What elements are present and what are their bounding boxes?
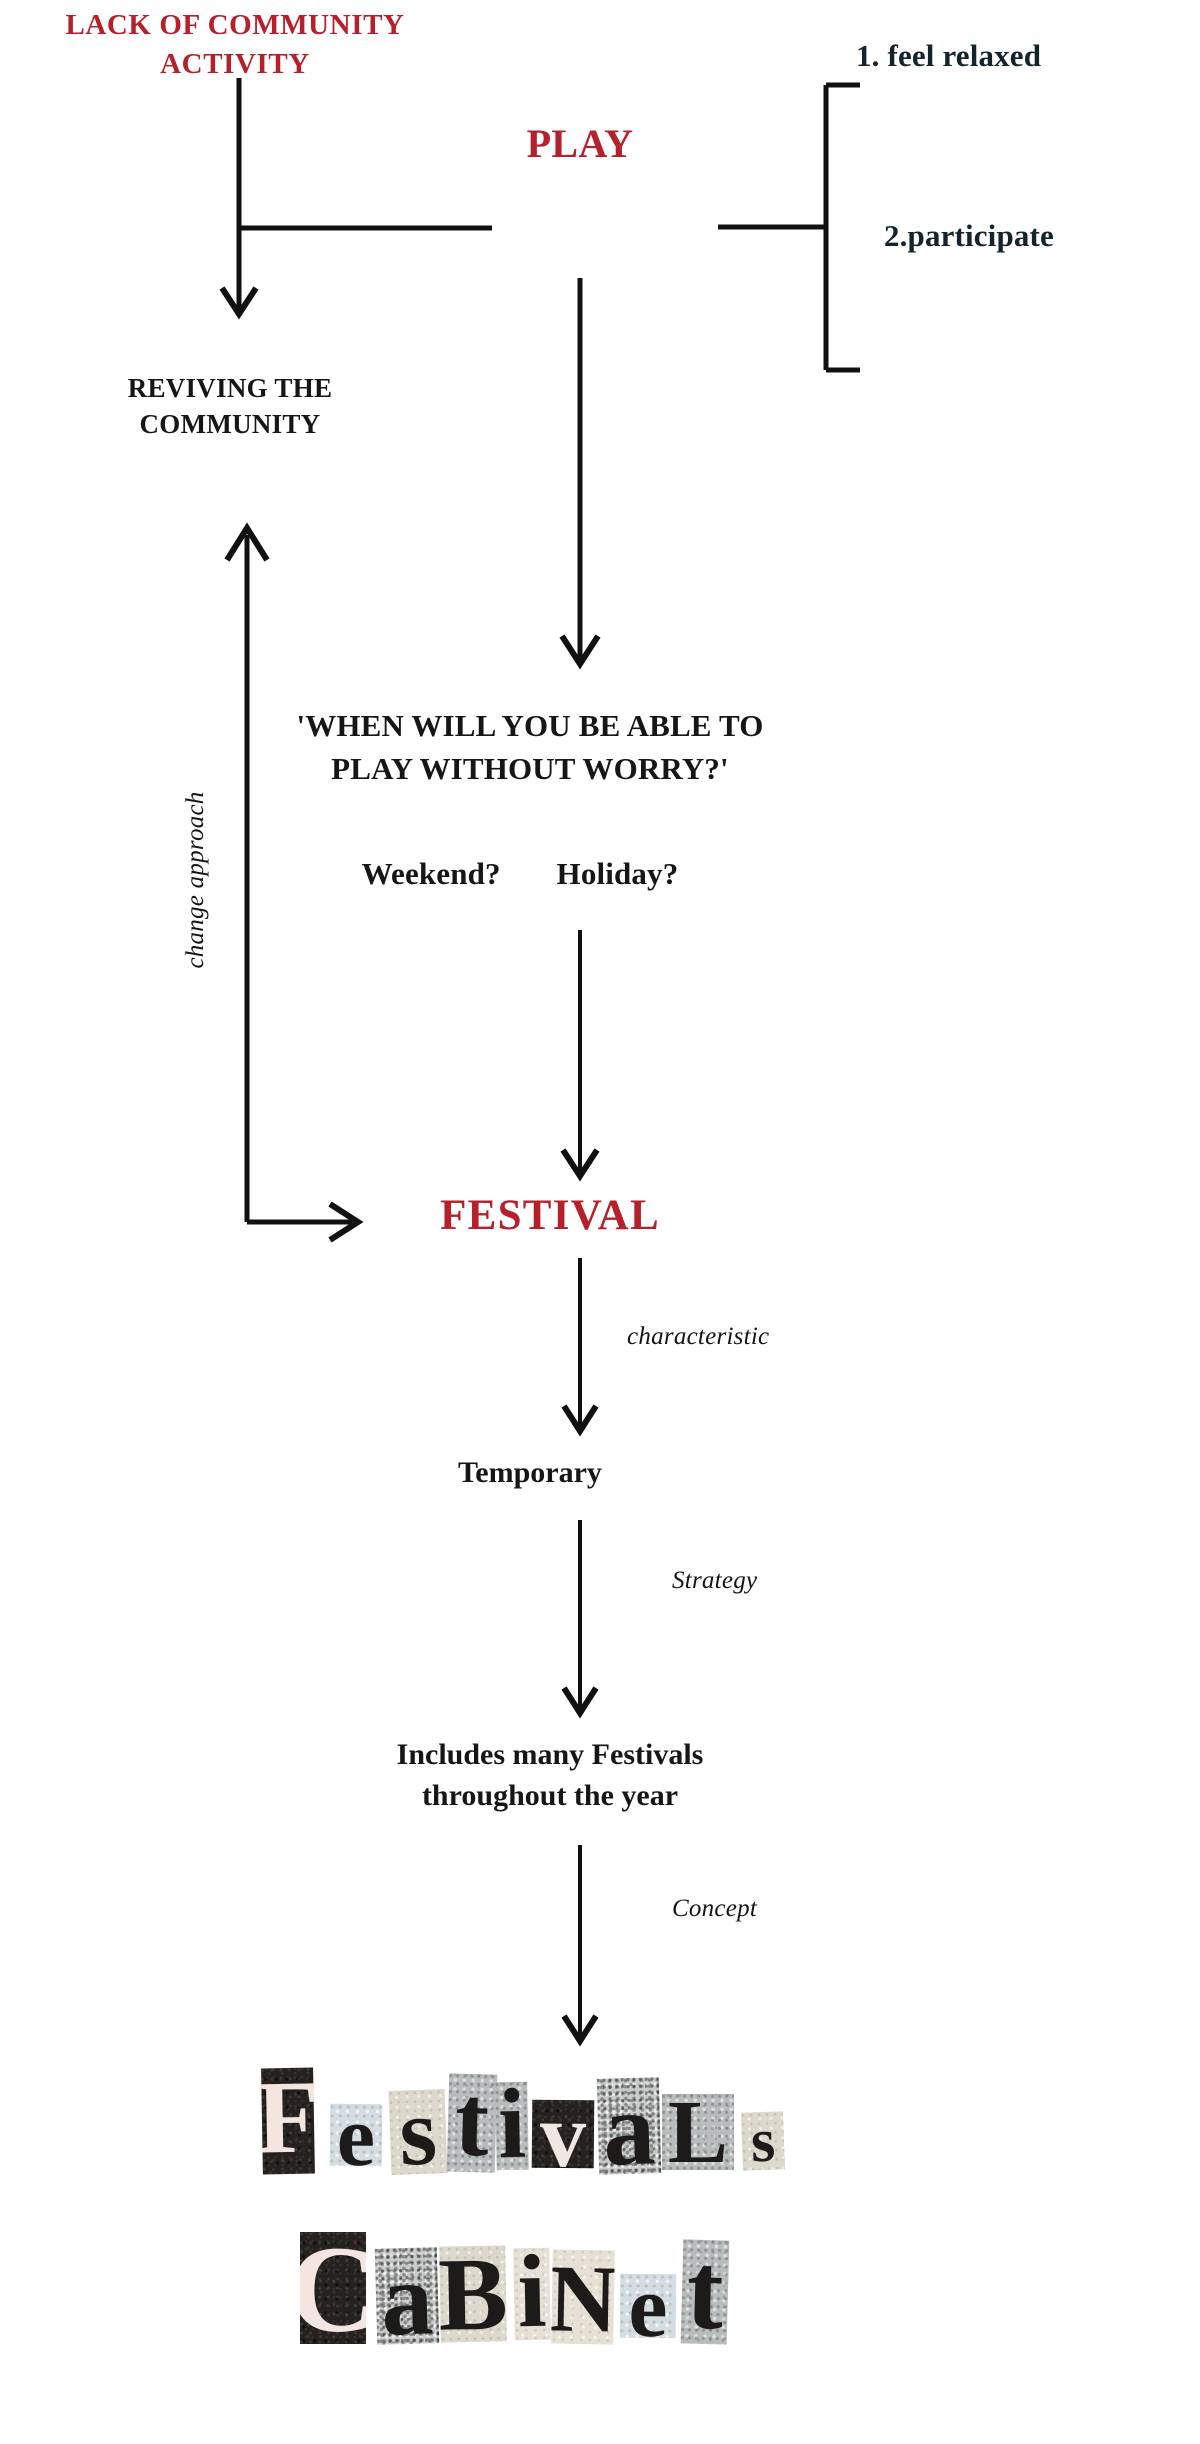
collage-letter-e: e (620, 2274, 677, 2338)
edge-options-to-festival (563, 930, 597, 1176)
collage-glyph: a (602, 2084, 656, 2175)
collage-glyph: i (517, 2248, 547, 2338)
collage-letter-e: e (330, 2104, 383, 2166)
collage-letter-s: s (389, 2089, 448, 2175)
collage-letter-t: t (681, 2239, 730, 2344)
node-question-options: Weekend? Holiday? (230, 855, 810, 893)
node-question-play-without-worry: 'WHEN WILL YOU BE ABLE TO PLAY WITHOUT W… (200, 705, 860, 791)
collage-letter-B: B (439, 2245, 507, 2342)
edge-temporary-to-includes (564, 1520, 596, 1713)
collage-letter-v: v (532, 2100, 595, 2169)
option-weekend: Weekend? (362, 855, 501, 893)
node-reviving-the-community: REVIVING THE COMMUNITY (20, 370, 440, 443)
reviving-line-1: REVIVING THE (20, 370, 440, 406)
collage-letter-s: s (741, 2111, 785, 2170)
node-festival: FESTIVAL (400, 1190, 700, 1242)
includes-line-2: throughout the year (255, 1776, 845, 1817)
collage-letter-C: C (300, 2232, 366, 2344)
collage-glyph: t (454, 2077, 490, 2168)
node-play: PLAY (450, 120, 710, 169)
collage-letter-a: a (597, 2077, 661, 2175)
includes-line-1: Includes many Festivals (255, 1735, 845, 1776)
problem-line-2: ACTIVITY (0, 45, 470, 84)
collage-letter-N: N (551, 2249, 615, 2344)
collage-title-cabinet: CaBiNet (300, 2232, 732, 2344)
collage-glyph: L (668, 2094, 728, 2170)
collage-glyph: e (628, 2274, 668, 2338)
question-line-2: PLAY WITHOUT WORRY?' (200, 748, 860, 791)
edge-festival-to-temporary (564, 1258, 596, 1431)
problem-line-1: LACK OF COMMUNITY (0, 6, 470, 45)
play-branch-participate: 2.participate (884, 218, 1054, 254)
play-branch-feel-relaxed: 1. feel relaxed (856, 38, 1041, 74)
diagram-canvas: LACK OF COMMUNITY ACTIVITY PLAY 1. feel … (0, 0, 1200, 2444)
edge-play-to-question (562, 278, 598, 664)
question-line-1: 'WHEN WILL YOU BE ABLE TO (200, 705, 860, 748)
collage-glyph: e (337, 2104, 376, 2166)
edge-includes-to-collage (564, 1845, 596, 2041)
node-includes-many-festivals: Includes many Festivals throughout the y… (255, 1735, 845, 1816)
collage-letter-a: a (375, 2247, 439, 2345)
option-holiday: Holiday? (557, 855, 679, 893)
node-temporary: Temporary (320, 1455, 740, 1492)
collage-glyph: B (439, 2249, 507, 2342)
collage-glyph: s (398, 2089, 438, 2175)
edge-label-strategy: Strategy (672, 1567, 757, 1595)
collage-letter-i: i (495, 2082, 529, 2171)
collage-glyph: t (685, 2242, 724, 2340)
edge-play-to-bracket (718, 85, 860, 370)
edge-problem-to-split (222, 78, 492, 316)
reviving-line-2: COMMUNITY (20, 406, 440, 442)
node-lack-of-community-activity: LACK OF COMMUNITY ACTIVITY (0, 6, 470, 84)
collage-glyph: F (261, 2072, 315, 2165)
collage-glyph: a (380, 2254, 434, 2345)
collage-glyph: C (300, 2235, 366, 2344)
edge-label-concept: Concept (672, 1895, 757, 1923)
edge-label-change-approach: change approach (182, 791, 210, 968)
collage-glyph: s (750, 2113, 776, 2168)
edge-label-characteristic: characteristic (627, 1323, 769, 1351)
collage-letter-i: i (513, 2248, 551, 2341)
collage-letter-L: L (662, 2094, 734, 2170)
collage-title-festivals: FestivaLs (262, 2068, 788, 2174)
collage-letter-F: F (261, 2068, 315, 2175)
collage-letter-t: t (447, 2073, 498, 2172)
collage-glyph: v (540, 2100, 587, 2169)
collage-glyph: N (551, 2256, 615, 2342)
collage-glyph: i (497, 2082, 526, 2169)
